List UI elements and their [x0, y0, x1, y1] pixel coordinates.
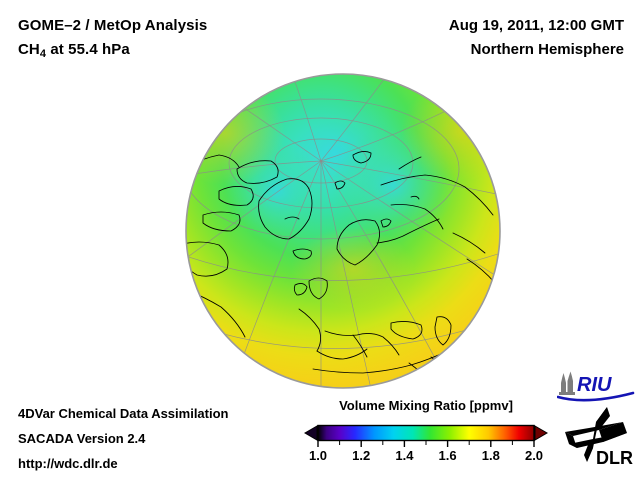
- visualization-page: GOME–2 / MetOp Analysis CH4 at 55.4 hPa …: [0, 0, 640, 480]
- dlr-logo: DLR: [563, 406, 633, 468]
- footer-method: 4DVar Chemical Data Assimilation: [18, 401, 229, 426]
- north-pole-marker: [320, 160, 322, 162]
- coastline-arabia: [431, 357, 457, 381]
- colorbar-extend-high: [535, 426, 547, 440]
- footer-url: http://wdc.dlr.de: [18, 451, 229, 476]
- riu-logo: RIU: [557, 371, 635, 405]
- colorbar-tick-labels: 1.0 1.2 1.4 1.6 1.8 2.0: [300, 448, 552, 468]
- species-level-title: CH4 at 55.4 hPa: [18, 38, 207, 63]
- footer-credits: 4DVar Chemical Data Assimilation SACADA …: [18, 401, 229, 476]
- instrument-title: GOME–2 / MetOp Analysis: [18, 14, 207, 38]
- header-left: GOME–2 / MetOp Analysis CH4 at 55.4 hPa: [18, 14, 207, 63]
- species-subscript: 4: [40, 48, 46, 60]
- colorbar-svg: [300, 416, 552, 450]
- colorbar-tick-3: 1.6: [439, 448, 457, 463]
- dlr-wordmark: DLR: [596, 448, 633, 468]
- colorbar-title: Volume Mixing Ratio [ppmv]: [300, 398, 552, 413]
- colorbar: Volume Mixing Ratio [ppmv]: [300, 398, 552, 474]
- species-suffix: at 55.4 hPa: [46, 41, 130, 58]
- footer-version: SACADA Version 2.4: [18, 426, 229, 451]
- warm-anomaly-europe: [291, 227, 415, 311]
- riu-tower-icon: [559, 372, 575, 396]
- colorbar-tick-1: 1.2: [352, 448, 370, 463]
- globe-map: [185, 73, 501, 389]
- datetime-label: Aug 19, 2011, 12:00 GMT: [449, 14, 624, 38]
- riu-wordmark: RIU: [577, 374, 612, 396]
- species-prefix: CH: [18, 41, 40, 58]
- colorbar-tick-4: 1.8: [482, 448, 500, 463]
- colorbar-gradient: [318, 426, 534, 441]
- colorbar-extend-low: [305, 426, 317, 440]
- colorbar-tick-0: 1.0: [309, 448, 327, 463]
- header-right: Aug 19, 2011, 12:00 GMT Northern Hemisph…: [449, 14, 624, 62]
- colorbar-tick-2: 1.4: [395, 448, 413, 463]
- colorbar-tick-5: 2.0: [525, 448, 543, 463]
- globe-svg: [185, 73, 501, 389]
- region-label: Northern Hemisphere: [449, 38, 624, 62]
